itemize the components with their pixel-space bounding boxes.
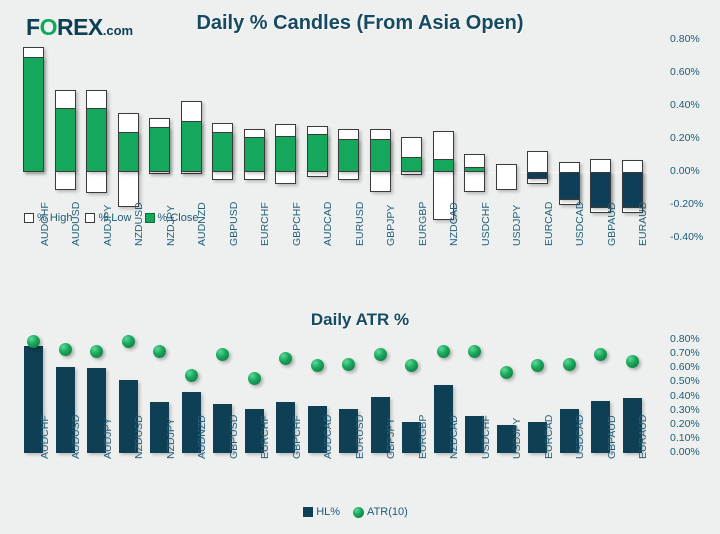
atr-marker: [90, 345, 103, 358]
legend-item-close: % Close: [145, 212, 199, 224]
y-axis-tick-bottom: 0.00%: [670, 446, 700, 458]
x-axis-tick-bottom: EURAUD: [637, 415, 649, 459]
atr-marker: [468, 345, 481, 358]
x-axis-tick-bottom: EURGBP: [417, 415, 429, 459]
atr-marker: [185, 369, 198, 382]
y-axis-tick-bottom: 0.30%: [670, 404, 700, 416]
x-axis-tick-top: GBPJPY: [385, 205, 397, 246]
x-axis-tick-bottom: AUDCAD: [322, 415, 334, 459]
candle-body-up: [181, 121, 202, 172]
atr-marker: [594, 348, 607, 361]
green-box-icon: [145, 213, 155, 223]
atr-marker: [374, 348, 387, 361]
x-axis-tick-top: AUDCAD: [322, 202, 334, 246]
atr-marker: [342, 358, 355, 371]
x-axis-tick-bottom: AUDNZD: [196, 415, 208, 459]
candle-body-up: [433, 159, 454, 172]
x-axis-tick-top: USDJPY: [511, 205, 523, 246]
white-box-icon: [85, 213, 95, 223]
atr-marker: [531, 359, 544, 372]
candle-body-up: [23, 57, 44, 173]
atr-marker: [405, 359, 418, 372]
atr-marker: [311, 359, 324, 372]
x-axis-tick-bottom: USDJPY: [511, 418, 523, 459]
x-axis-tick-bottom: AUDJPY: [102, 418, 114, 459]
legend-item-atr: ATR(10): [353, 506, 408, 518]
atr-marker: [59, 343, 72, 356]
x-axis-tick-bottom: NZDUSD: [133, 415, 145, 459]
x-axis-tick-bottom: AUDCHF: [39, 415, 51, 459]
x-axis-tick-top: EURAUD: [637, 202, 649, 246]
atr-marker: [279, 352, 292, 365]
chart-page: FOREX.com Daily % Candles (From Asia Ope…: [0, 0, 720, 534]
x-axis-tick-bottom: GBPCHF: [291, 415, 303, 459]
atr-marker: [153, 345, 166, 358]
candle-wick: [527, 151, 548, 184]
y-axis-tick-top: 0.80%: [670, 33, 700, 45]
x-axis-tick-top: USDCHF: [480, 202, 492, 246]
x-axis-tick-bottom: NZDJPY: [165, 418, 177, 459]
x-axis-tick-top: EURUSD: [354, 202, 366, 246]
y-axis-tick-top: 0.60%: [670, 66, 700, 78]
legend-label-low: % Low: [98, 212, 131, 224]
candle-body-up: [464, 167, 485, 172]
candle-body-up: [149, 127, 170, 172]
y-axis-tick-bottom: 0.60%: [670, 361, 700, 373]
legend-item-high: % High: [24, 212, 72, 224]
legend-label-high: % High: [37, 212, 72, 224]
atr-plot-area: 0.80%0.70%0.60%0.50%0.40%0.30%0.20%0.10%…: [18, 340, 648, 455]
x-axis-tick-top: AUDCHF: [39, 202, 51, 246]
legend-label-hl: HL%: [316, 506, 340, 518]
atr-marker: [626, 355, 639, 368]
candle-body-up: [86, 108, 107, 172]
candle-wick: [464, 154, 485, 192]
legend-item-low: % Low: [85, 212, 131, 224]
x-axis-tick-top: EURCAD: [543, 202, 555, 246]
page-title: Daily % Candles (From Asia Open): [0, 12, 720, 35]
x-axis-tick-bottom: USDCAD: [574, 415, 586, 459]
x-axis-tick-top: GBPCHF: [291, 202, 303, 246]
x-axis-tick-top: EURCHF: [259, 202, 271, 246]
x-axis-tick-bottom: GBPJPY: [385, 418, 397, 459]
legend-item-hl: HL%: [303, 506, 340, 518]
x-axis-tick-top: AUDJPY: [102, 205, 114, 246]
candle-body-up: [244, 137, 265, 172]
y-axis-tick-bottom: 0.40%: [670, 390, 700, 402]
y-axis-tick-bottom: 0.80%: [670, 333, 700, 345]
x-axis-tick-top: AUDNZD: [196, 202, 208, 246]
candle-body-up: [401, 157, 422, 172]
candle-body-up: [338, 139, 359, 172]
atr-section-title: Daily ATR %: [0, 310, 720, 330]
x-axis-tick-bottom: EURUSD: [354, 415, 366, 459]
x-axis-tick-top: GBPAUD: [606, 202, 618, 246]
candle-body-down: [527, 172, 548, 179]
y-axis-tick-top: 0.20%: [670, 132, 700, 144]
candle-body-up: [275, 136, 296, 172]
atr-marker: [216, 348, 229, 361]
zero-axis-line: [18, 172, 648, 173]
candle-body-up: [212, 132, 233, 172]
green-sphere-icon: [353, 507, 364, 518]
x-axis-tick-bottom: AUDUSD: [70, 415, 82, 459]
x-axis-tick-bottom: GBPUSD: [228, 415, 240, 459]
candles-legend: % High % Low % Close: [24, 212, 207, 224]
candle-body-up: [55, 108, 76, 172]
atr-legend: HL% ATR(10): [0, 506, 720, 518]
candle-body-up: [307, 134, 328, 172]
x-axis-tick-bottom: EURCHF: [259, 415, 271, 459]
x-axis-tick-top: USDCAD: [574, 202, 586, 246]
atr-marker: [437, 345, 450, 358]
y-axis-tick-top: 0.40%: [670, 99, 700, 111]
y-axis-tick-top: -0.20%: [670, 198, 703, 210]
x-axis-tick-top: NZDUSD: [133, 202, 145, 246]
y-axis-tick-bottom: 0.10%: [670, 432, 700, 444]
legend-label-close: % Close: [158, 212, 199, 224]
x-axis-tick-bottom: EURCAD: [543, 415, 555, 459]
x-axis-tick-bottom: NZDCAD: [448, 415, 460, 459]
x-axis-tick-top: NZDCAD: [448, 202, 460, 246]
y-axis-tick-bottom: 0.70%: [670, 347, 700, 359]
x-axis-tick-top: EURGBP: [417, 202, 429, 246]
candle-wick: [496, 164, 517, 190]
candle-body-down: [559, 172, 580, 200]
x-axis-tick-bottom: GBPAUD: [606, 415, 618, 459]
y-axis-tick-top: -0.40%: [670, 231, 703, 243]
y-axis-tick-top: 0.00%: [670, 165, 700, 177]
atr-marker: [563, 358, 576, 371]
candle-body-up: [118, 132, 139, 172]
navy-box-icon: [303, 507, 313, 517]
white-box-icon: [24, 213, 34, 223]
x-axis-tick-top: GBPUSD: [228, 202, 240, 246]
legend-label-atr: ATR(10): [367, 506, 408, 518]
y-axis-tick-bottom: 0.20%: [670, 418, 700, 430]
candle-body-up: [370, 139, 391, 172]
candles-plot-area: 0.80%0.60%0.40%0.20%0.00%-0.20%-0.40%AUD…: [18, 40, 648, 238]
x-axis-tick-bottom: USDCHF: [480, 415, 492, 459]
atr-marker: [248, 372, 261, 385]
y-axis-tick-bottom: 0.50%: [670, 375, 700, 387]
atr-marker: [122, 335, 135, 348]
atr-marker: [500, 366, 513, 379]
